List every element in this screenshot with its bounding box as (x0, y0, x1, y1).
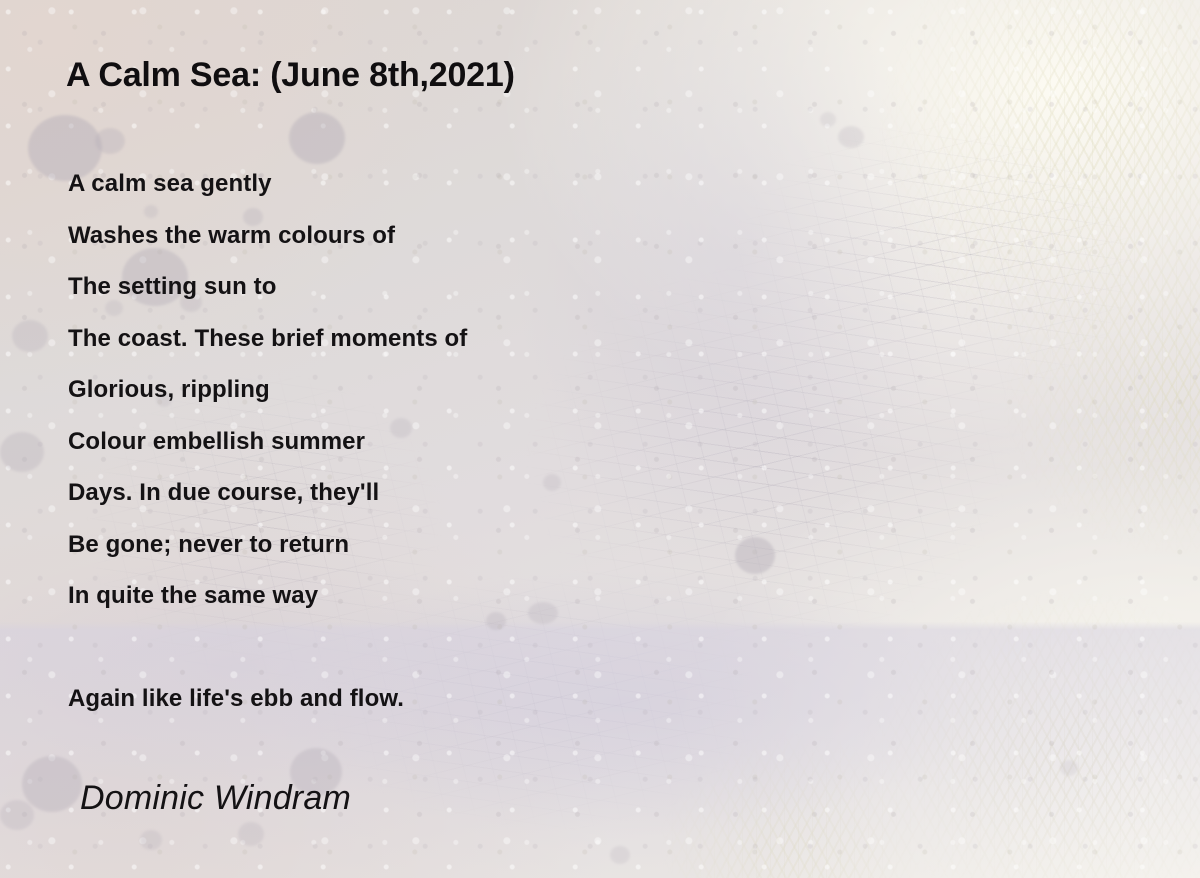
poem-line: Colour embellish summer (68, 416, 828, 468)
poem-line: Days. In due course, they'll (68, 467, 828, 519)
poem-line: Be gone; never to return (68, 519, 828, 571)
poem-image: A Calm Sea: (June 8th,2021) A calm sea g… (0, 0, 1200, 878)
poem-line: Again like life's ebb and flow. (68, 673, 828, 725)
ink-splatter (12, 320, 48, 352)
poem-body: A calm sea gentlyWashes the warm colours… (68, 158, 828, 725)
poem-line: Glorious, rippling (68, 364, 828, 416)
ink-splatter (140, 830, 162, 850)
poem-line: Washes the warm colours of (68, 210, 828, 262)
poem-line: A calm sea gently (68, 158, 828, 210)
ink-splatter (820, 112, 836, 127)
poem-line: The setting sun to (68, 261, 828, 313)
ink-splatter (1060, 760, 1078, 776)
author-signature: Dominic Windram (80, 779, 351, 818)
ink-splatter (610, 846, 630, 864)
poem-line: The coast. These brief moments of (68, 313, 828, 365)
poem-line-blank (68, 622, 828, 674)
poem-line: In quite the same way (68, 570, 828, 622)
ink-splatter (22, 756, 82, 812)
page-title: A Calm Sea: (June 8th,2021) (66, 56, 515, 95)
ink-splatter (0, 432, 44, 472)
ink-splatter (838, 126, 864, 148)
ink-splatter (289, 112, 345, 164)
ink-splatter (238, 822, 264, 846)
ink-splatter (95, 128, 125, 154)
ink-splatter (0, 800, 34, 830)
